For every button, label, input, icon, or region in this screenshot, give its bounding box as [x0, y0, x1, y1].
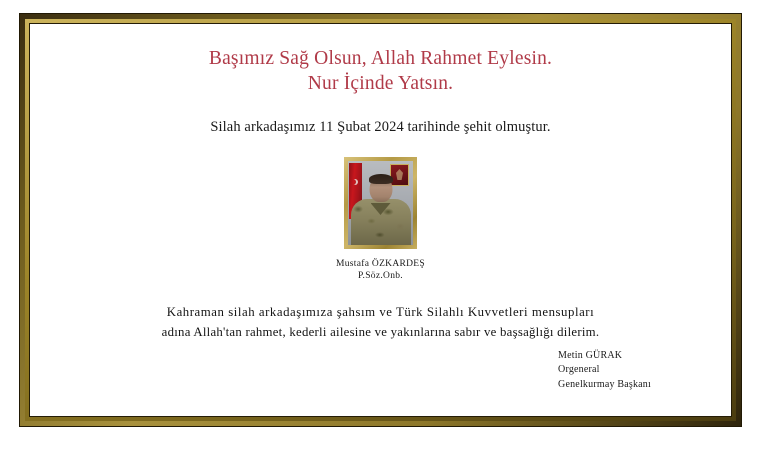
ornamental-frame-middle: Başımız Sağ Olsun, Allah Rahmet Eylesin.… — [25, 19, 736, 421]
portrait-frame — [344, 157, 417, 249]
ornamental-frame-outer: Başımız Sağ Olsun, Allah Rahmet Eylesin.… — [20, 14, 741, 426]
soldier-hair — [369, 174, 393, 184]
announcement-text: Silah arkadaşımız 11 Şubat 2024 tarihind… — [32, 96, 729, 137]
portrait-container — [32, 137, 729, 249]
condolence-message: Kahraman silah arkadaşımıza şahsım ve Tü… — [32, 282, 729, 342]
headline-line-1: Başımız Sağ Olsun, Allah Rahmet Eylesin. — [32, 46, 729, 71]
page-title: Başımız Sağ Olsun, Allah Rahmet Eylesin.… — [32, 26, 729, 96]
signature-block: Metin GÜRAK Orgeneral Genelkurmay Başkan… — [558, 349, 651, 393]
signatory-title: Genelkurmay Başkanı — [558, 378, 651, 393]
soldier-name: Mustafa ÖZKARDEŞ — [32, 258, 729, 270]
signatory-name: Metin GÜRAK — [558, 349, 651, 364]
unit-emblem-icon — [390, 164, 409, 186]
memorial-card: Başımız Sağ Olsun, Allah Rahmet Eylesin.… — [32, 26, 729, 414]
memorial-notice-page: Başımız Sağ Olsun, Allah Rahmet Eylesin.… — [0, 0, 760, 450]
soldier-rank: P.Söz.Onb. — [32, 270, 729, 282]
soldier-identity: Mustafa ÖZKARDEŞ P.Söz.Onb. — [32, 249, 729, 282]
signatory-rank: Orgeneral — [558, 363, 651, 378]
ornamental-frame-inner-line: Başımız Sağ Olsun, Allah Rahmet Eylesin.… — [29, 23, 732, 417]
message-line-1: Kahraman silah arkadaşımıza şahsım ve Tü… — [58, 302, 703, 322]
soldier-photo — [348, 161, 413, 245]
message-line-2: adına Allah'tan rahmet, kederli ailesine… — [58, 322, 703, 342]
headline-line-2: Nur İçinde Yatsın. — [32, 71, 729, 96]
